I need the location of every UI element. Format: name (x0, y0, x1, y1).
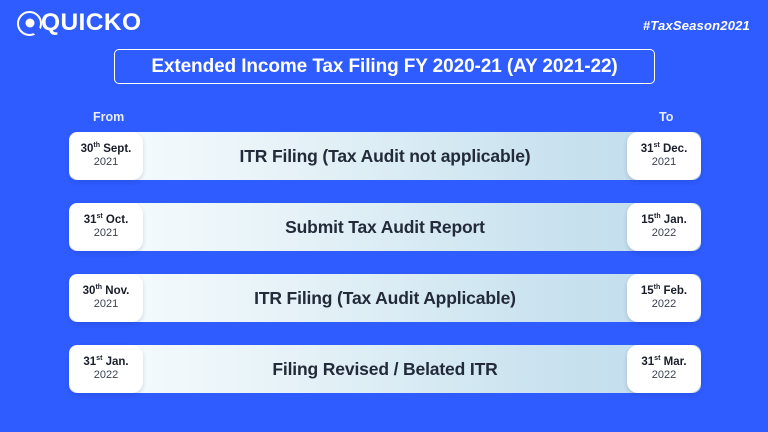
date-year: 2021 (94, 227, 118, 240)
date-ordinal-suffix: st (654, 355, 660, 362)
timeline-row: 30th Nov.2021ITR Filing (Tax Audit Appli… (69, 274, 701, 322)
date-day-month: 30th Sept. (81, 143, 132, 156)
milestone-label: Filing Revised / Belated ITR (272, 359, 497, 380)
date-ordinal-suffix: st (96, 355, 102, 362)
date-month: Mar. (664, 356, 687, 368)
date-day-month: 31st Dec. (641, 143, 688, 156)
date-day-month: 31st Mar. (641, 356, 686, 369)
timeline-rows: 30th Sept.2021ITR Filing (Tax Audit not … (69, 132, 701, 393)
date-ordinal-suffix: th (654, 284, 661, 291)
start-date-pill: 30th Sept.2021 (69, 132, 143, 180)
title-banner: Extended Income Tax Filing FY 2020-21 (A… (114, 49, 655, 84)
start-date-pill: 30th Nov.2021 (69, 274, 143, 322)
brand-logo-text: QUICKO (41, 11, 141, 36)
timeline-row: 31st Jan.2022Filing Revised / Belated IT… (69, 345, 701, 393)
date-day-month: 30th Nov. (83, 285, 130, 298)
end-date-pill: 15th Jan.2022 (627, 203, 701, 251)
date-ordinal-suffix: th (654, 213, 661, 220)
column-header-to: To (659, 110, 673, 124)
date-day-month: 15th Feb. (641, 285, 687, 298)
milestone-label: Submit Tax Audit Report (285, 217, 485, 238)
page-title: Extended Income Tax Filing FY 2020-21 (A… (151, 56, 617, 78)
date-year: 2022 (652, 227, 676, 240)
campaign-hashtag: #TaxSeason2021 (643, 18, 750, 33)
end-date-pill: 15th Feb.2022 (627, 274, 701, 322)
end-date-pill: 31st Mar.2022 (627, 345, 701, 393)
date-month: Feb. (663, 285, 687, 297)
quicko-circle-dot-icon (17, 11, 42, 36)
infographic-canvas: QUICKO #TaxSeason2021 Extended Income Ta… (0, 0, 768, 432)
end-date-pill: 31st Dec.2021 (627, 132, 701, 180)
start-date-pill: 31st Oct.2021 (69, 203, 143, 251)
start-date-pill: 31st Jan.2022 (69, 345, 143, 393)
date-month: Jan. (106, 356, 129, 368)
date-year: 2021 (94, 156, 118, 169)
date-month: Sept. (103, 143, 131, 155)
date-ordinal-suffix: st (654, 142, 660, 149)
milestone-label: ITR Filing (Tax Audit Applicable) (254, 288, 516, 309)
date-month: Jan. (664, 214, 687, 226)
date-year: 2022 (652, 369, 676, 382)
brand-logo: QUICKO (17, 9, 141, 37)
date-ordinal-suffix: th (93, 142, 100, 149)
date-day-month: 15th Jan. (641, 214, 687, 227)
column-header-from: From (93, 110, 124, 124)
milestone-label: ITR Filing (Tax Audit not applicable) (240, 146, 531, 167)
date-month: Nov. (105, 285, 129, 297)
date-year: 2022 (94, 369, 118, 382)
date-year: 2022 (652, 298, 676, 311)
timeline-row: 31st Oct.2021Submit Tax Audit Report15th… (69, 203, 701, 251)
date-month: Dec. (663, 143, 687, 155)
timeline-row: 30th Sept.2021ITR Filing (Tax Audit not … (69, 132, 701, 180)
date-day-month: 31st Oct. (84, 214, 129, 227)
date-ordinal-suffix: st (96, 213, 102, 220)
date-month: Oct. (106, 214, 128, 226)
date-day-month: 31st Jan. (83, 356, 128, 369)
date-ordinal-suffix: th (95, 284, 102, 291)
date-year: 2021 (652, 156, 676, 169)
date-year: 2021 (94, 298, 118, 311)
